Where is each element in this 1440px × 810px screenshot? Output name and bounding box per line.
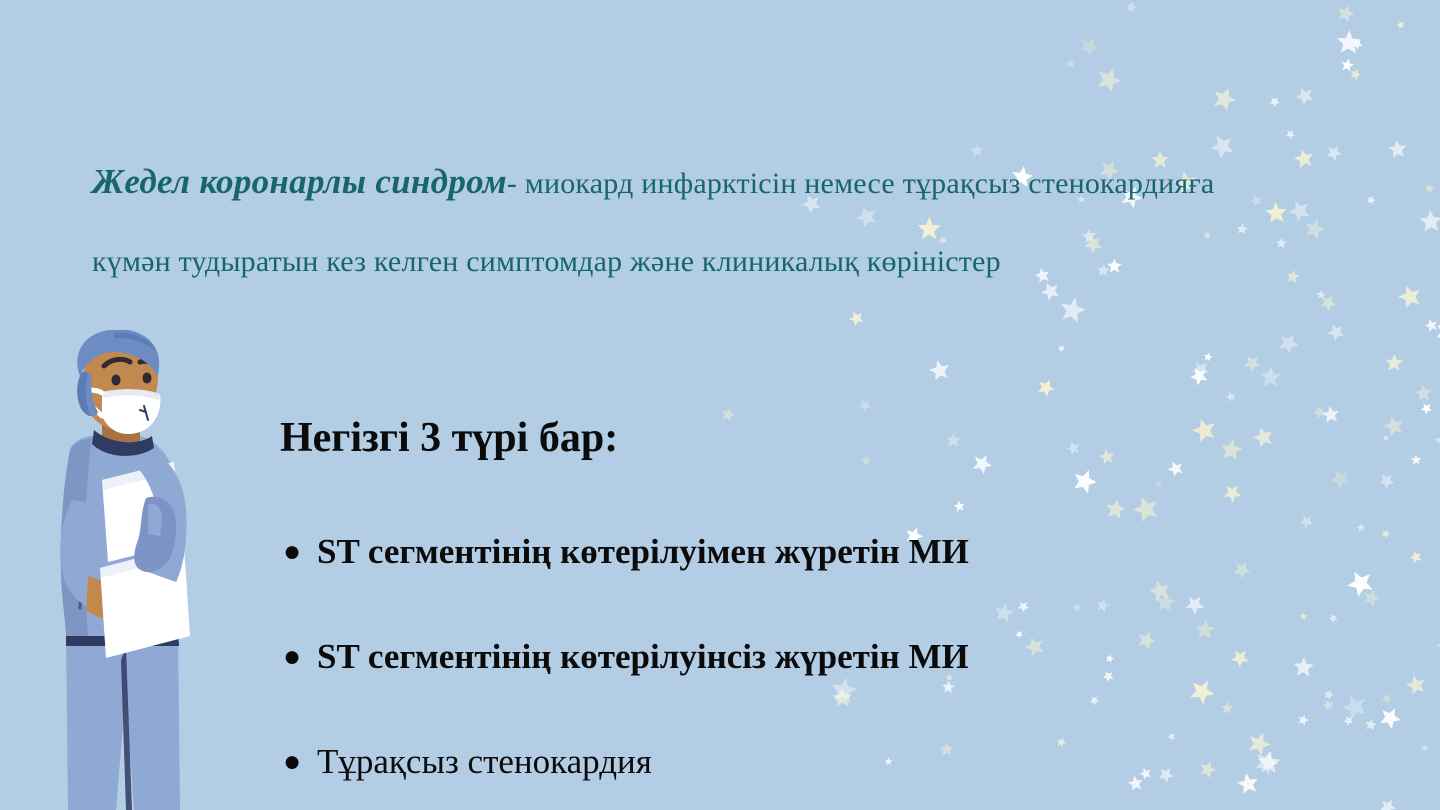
star-icon [1414, 205, 1440, 238]
star-icon [1400, 670, 1431, 701]
star-icon [1055, 342, 1067, 354]
star-icon [1217, 436, 1245, 464]
star-icon [1296, 511, 1317, 532]
star-icon [1283, 127, 1298, 142]
bullet-point-icon: ● [283, 635, 301, 679]
star-icon [1032, 375, 1059, 402]
star-icon [1095, 445, 1120, 470]
star-icon [1187, 356, 1215, 384]
star-icon [1063, 438, 1084, 459]
star-icon [718, 405, 738, 425]
star-icon [1375, 795, 1399, 810]
star-icon [1298, 611, 1310, 623]
star-icon [1223, 389, 1239, 405]
star-icon [1406, 547, 1426, 567]
star-icon [1339, 57, 1356, 74]
list-item-label: ST сегментінің көтерілуінсіз жүретін МИ [317, 637, 969, 676]
list-item: ●Тұрақсыз стенокардия [283, 740, 1283, 784]
star-icon [1384, 136, 1412, 164]
star-icon [1218, 479, 1247, 508]
star-icon [1431, 316, 1440, 347]
star-icon [1309, 402, 1330, 423]
star-icon [1322, 141, 1346, 165]
star-icon [1384, 352, 1405, 373]
star-icon [1323, 320, 1349, 346]
star-icon [1202, 351, 1214, 363]
star-icon [1322, 687, 1337, 702]
star-icon [1318, 401, 1344, 427]
slide-canvas: Жедел коронарлы синдром- миокард инфаркт… [0, 0, 1440, 810]
star-icon [1273, 328, 1304, 359]
star-icon [1421, 315, 1440, 336]
list-item: ●ST сегментінің көтерілуімен жүретін МИ [283, 530, 1283, 574]
medical-worker-illustration [28, 330, 233, 810]
star-icon [1423, 182, 1436, 195]
star-icon [1074, 32, 1104, 62]
bullet-point-icon: ● [283, 530, 301, 574]
star-icon [1418, 742, 1431, 755]
star-icon [1429, 625, 1440, 662]
star-icon [951, 497, 968, 514]
arm-right-gloved-hand [134, 450, 186, 582]
star-icon [1291, 655, 1315, 679]
star-icon [1090, 62, 1126, 98]
star-icon [967, 449, 997, 479]
star-icon [1315, 290, 1326, 301]
star-icon [1408, 453, 1424, 469]
star-icon [1258, 365, 1283, 390]
star-icon [1291, 81, 1320, 110]
types-bullet-list: ●ST сегментінің көтерілуімен жүретін МИ●… [283, 530, 1283, 810]
head [77, 330, 160, 434]
star-icon [1340, 713, 1356, 729]
list-item: ●ST сегментінің көтерілуінсіз жүретін МИ [283, 635, 1283, 679]
star-icon [1124, 0, 1140, 16]
star-icon [1334, 28, 1363, 57]
star-icon [1347, 66, 1364, 83]
star-icon [1382, 434, 1391, 443]
star-icon [945, 431, 962, 448]
star-icon [1102, 496, 1129, 523]
star-icon [1429, 426, 1440, 456]
star-icon [1185, 362, 1214, 391]
star-icon [1379, 411, 1410, 442]
star-icon [1335, 687, 1374, 726]
star-icon [1289, 144, 1319, 174]
star-icon [1392, 279, 1428, 315]
star-icon [1239, 350, 1266, 377]
star-icon [844, 307, 868, 331]
star-icon [1340, 563, 1381, 604]
star-icon [859, 453, 875, 469]
star-icon [1126, 489, 1166, 529]
star-icon [1411, 381, 1436, 406]
star-icon [1248, 421, 1280, 453]
bullet-point-icon: ● [283, 740, 301, 784]
star-icon [1067, 464, 1102, 499]
star-icon [1319, 696, 1336, 713]
star-icon [1379, 528, 1392, 541]
star-icon [1354, 521, 1367, 534]
star-icon [1379, 691, 1395, 707]
scrubs-trousers [66, 630, 180, 810]
list-item-label: ST сегментінің көтерілуімен жүретін МИ [317, 532, 969, 571]
star-icon [1348, 36, 1365, 53]
star-icon [1267, 94, 1283, 110]
star-icon [856, 396, 876, 416]
star-icon [1364, 193, 1377, 206]
list-item-label: Тұрақсыз стенокардия [317, 742, 652, 781]
star-icon [1295, 713, 1310, 728]
star-icon [1300, 215, 1329, 244]
star-icon [1375, 469, 1400, 494]
star-icon [1325, 611, 1340, 626]
star-icon [1417, 400, 1435, 418]
star-icon [1185, 412, 1223, 450]
intro-term: Жедел коронарлы синдром [92, 162, 507, 201]
star-icon [1207, 82, 1241, 116]
intro-paragraph: Жедел коронарлы синдром- миокард инфаркт… [92, 143, 1292, 301]
star-icon [1374, 702, 1407, 735]
star-icon [1363, 717, 1378, 732]
star-icon [1394, 18, 1407, 31]
star-icon [1359, 585, 1385, 611]
star-icon [1063, 56, 1078, 71]
star-icon [1151, 477, 1166, 492]
star-icon [1316, 291, 1341, 316]
star-icon [1334, 1, 1358, 25]
star-icon [1164, 457, 1189, 482]
star-icon [1324, 463, 1356, 495]
star-icon [924, 355, 956, 387]
content-heading: Негізгі 3 түрі бар: [280, 413, 618, 463]
